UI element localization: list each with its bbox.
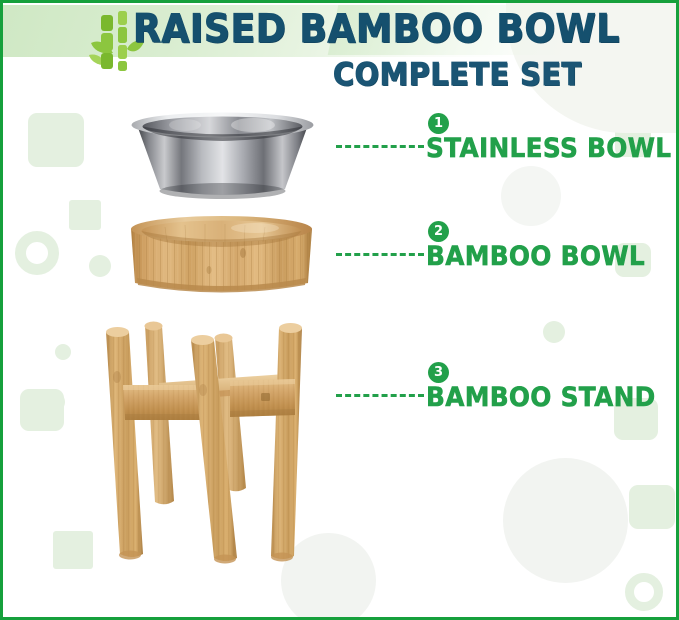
callout-1-leader-line [336, 145, 424, 148]
callout-2-label: BAMBOO BOWL [426, 241, 645, 272]
callout-2-badge: 2 [428, 221, 449, 242]
decorative-ring-left [15, 231, 59, 275]
decorative-square-left-mid [69, 200, 101, 230]
callout-3-leader-line [336, 394, 424, 397]
callout-3-badge: 3 [428, 362, 449, 383]
decorative-square-left-lower [20, 389, 64, 431]
bamboo-stand [83, 315, 348, 580]
callout-1-label: STAINLESS BOWL [426, 133, 671, 164]
callout-3-label: BAMBOO STAND [426, 382, 656, 413]
bamboo-bowl [125, 215, 318, 305]
decorative-circle-small-left [89, 255, 111, 277]
decorative-circle-large-bottom-right [503, 458, 628, 583]
decorative-circle-mid-right [501, 166, 561, 226]
page-title: RAISED BAMBOO BOWL [133, 7, 620, 52]
decorative-circle-left-lower [45, 392, 65, 412]
decorative-square-top-left [28, 113, 84, 167]
decorative-ring-right [625, 573, 663, 611]
stainless-steel-bowl [125, 111, 320, 203]
infographic-canvas: RAISED BAMBOO BOWL COMPLETE SET [0, 0, 679, 620]
decorative-circle-right-upper [543, 321, 565, 343]
callout-1-badge: 1 [428, 113, 449, 134]
decorative-square-right-bottom [629, 485, 675, 529]
callout-2-leader-line [336, 253, 424, 256]
decorative-circle-small-left-2 [55, 344, 71, 360]
page-subtitle: COMPLETE SET [333, 57, 582, 93]
